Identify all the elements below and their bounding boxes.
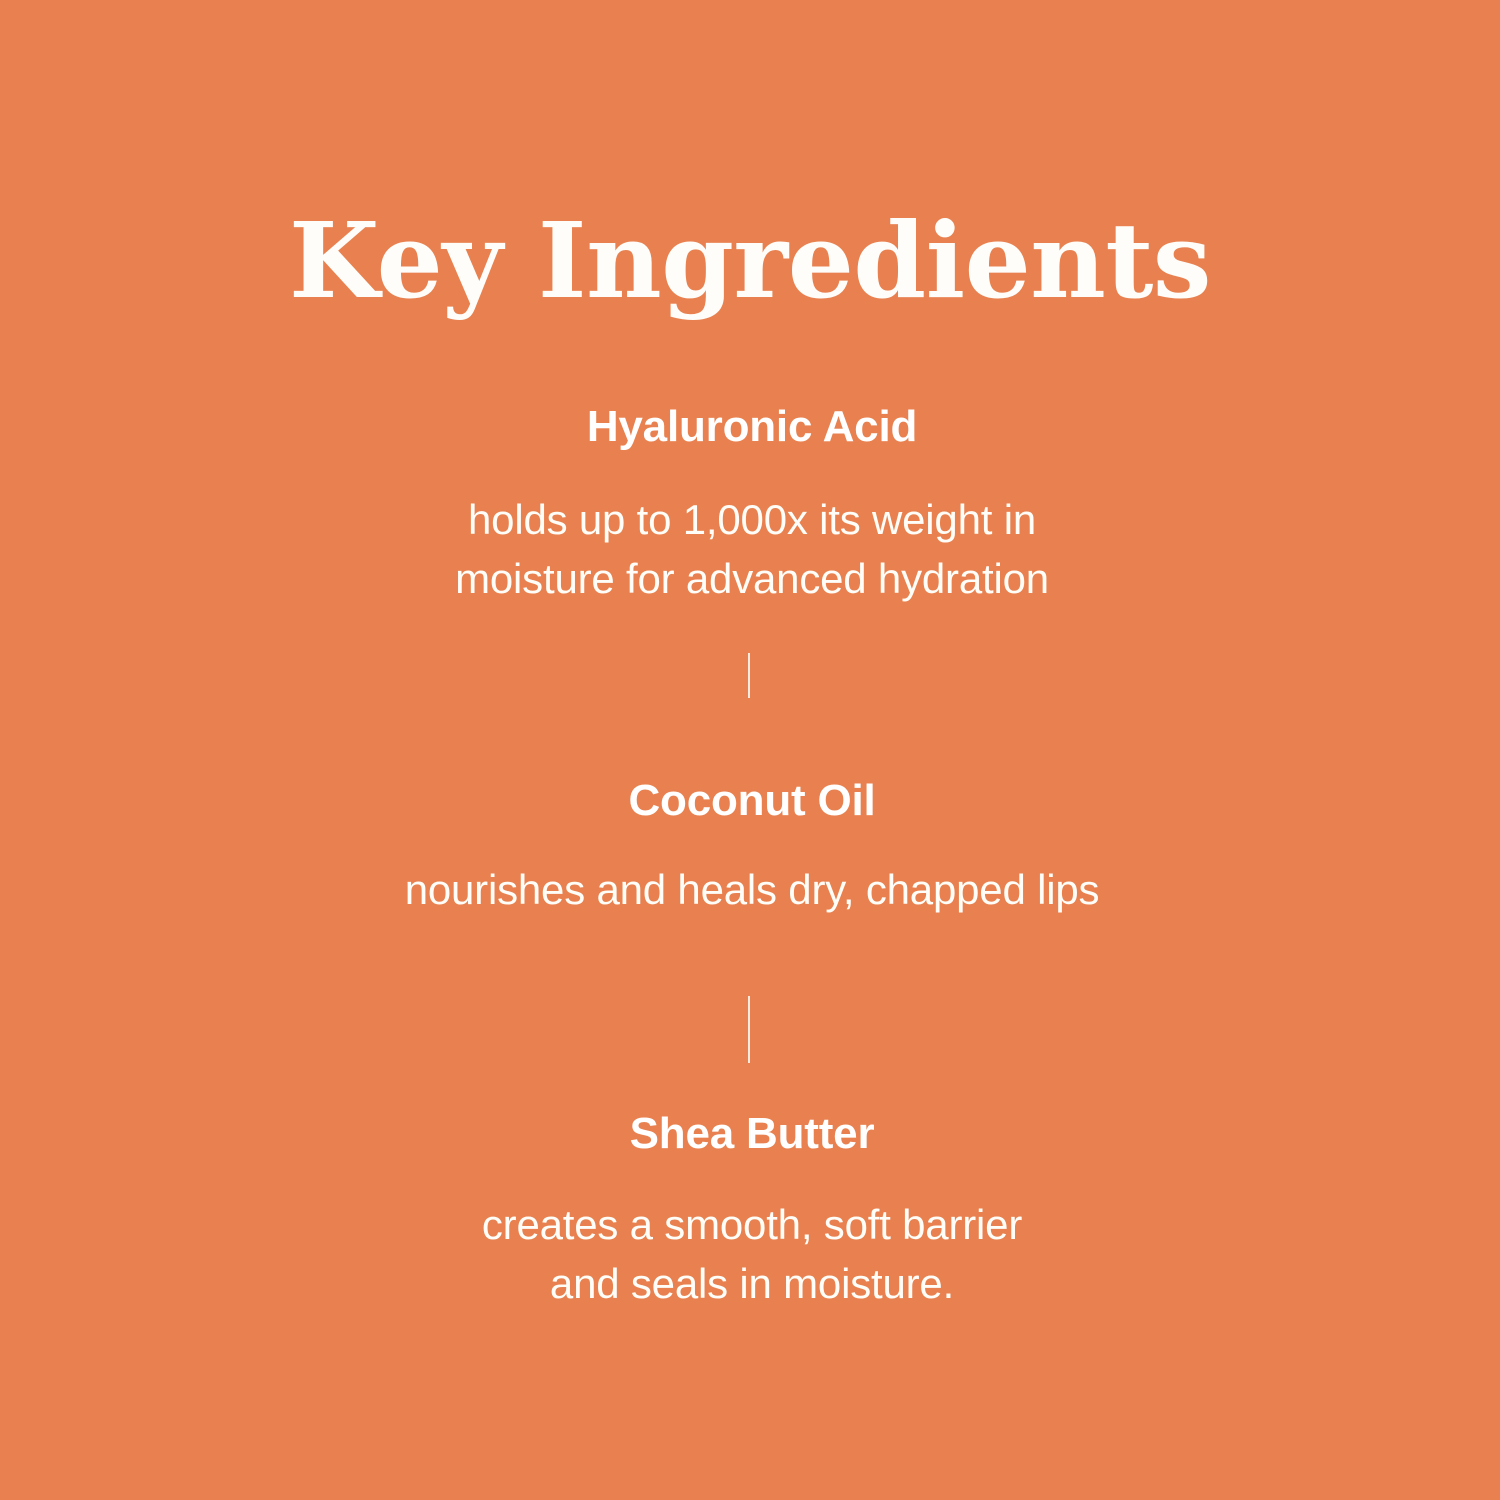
ingredient-description: creates a smooth, soft barrier and seals… xyxy=(482,1195,1022,1314)
connector-line xyxy=(748,996,750,1063)
ingredient-description-line: moisture for advanced hydration xyxy=(455,549,1049,609)
ingredient-description-line: nourishes and heals dry, chapped lips xyxy=(405,860,1100,920)
key-ingredients-infographic: Key Ingredients Hyaluronic Acid holds up… xyxy=(0,0,1500,1500)
ingredient-title: Hyaluronic Acid xyxy=(587,401,917,454)
connector-card2-card3 xyxy=(148,996,1356,1063)
connector-line xyxy=(748,653,750,698)
ingredient-description: holds up to 1,000x its weight in moistur… xyxy=(455,490,1049,609)
ingredient-title: Coconut Oil xyxy=(628,775,875,828)
ingredient-description: nourishes and heals dry, chapped lips xyxy=(405,860,1100,920)
page-title: Key Ingredients xyxy=(0,206,1500,315)
ingredient-description-line: creates a smooth, soft barrier xyxy=(482,1195,1022,1255)
ingredient-card-hyaluronic-acid[interactable]: Hyaluronic Acid holds up to 1,000x its w… xyxy=(148,357,1356,653)
connector-card1-card2 xyxy=(148,653,1356,698)
ingredient-description-line: holds up to 1,000x its weight in xyxy=(455,490,1049,550)
ingredient-card-shea-butter[interactable]: Shea Butter creates a smooth, soft barri… xyxy=(148,1063,1356,1359)
ingredient-card-stack: Hyaluronic Acid holds up to 1,000x its w… xyxy=(148,357,1356,1359)
ingredient-title: Shea Butter xyxy=(630,1108,875,1161)
ingredient-card-coconut-oil[interactable]: Coconut Oil nourishes and heals dry, cha… xyxy=(148,698,1356,996)
ingredient-description-line: and seals in moisture. xyxy=(482,1254,1022,1314)
